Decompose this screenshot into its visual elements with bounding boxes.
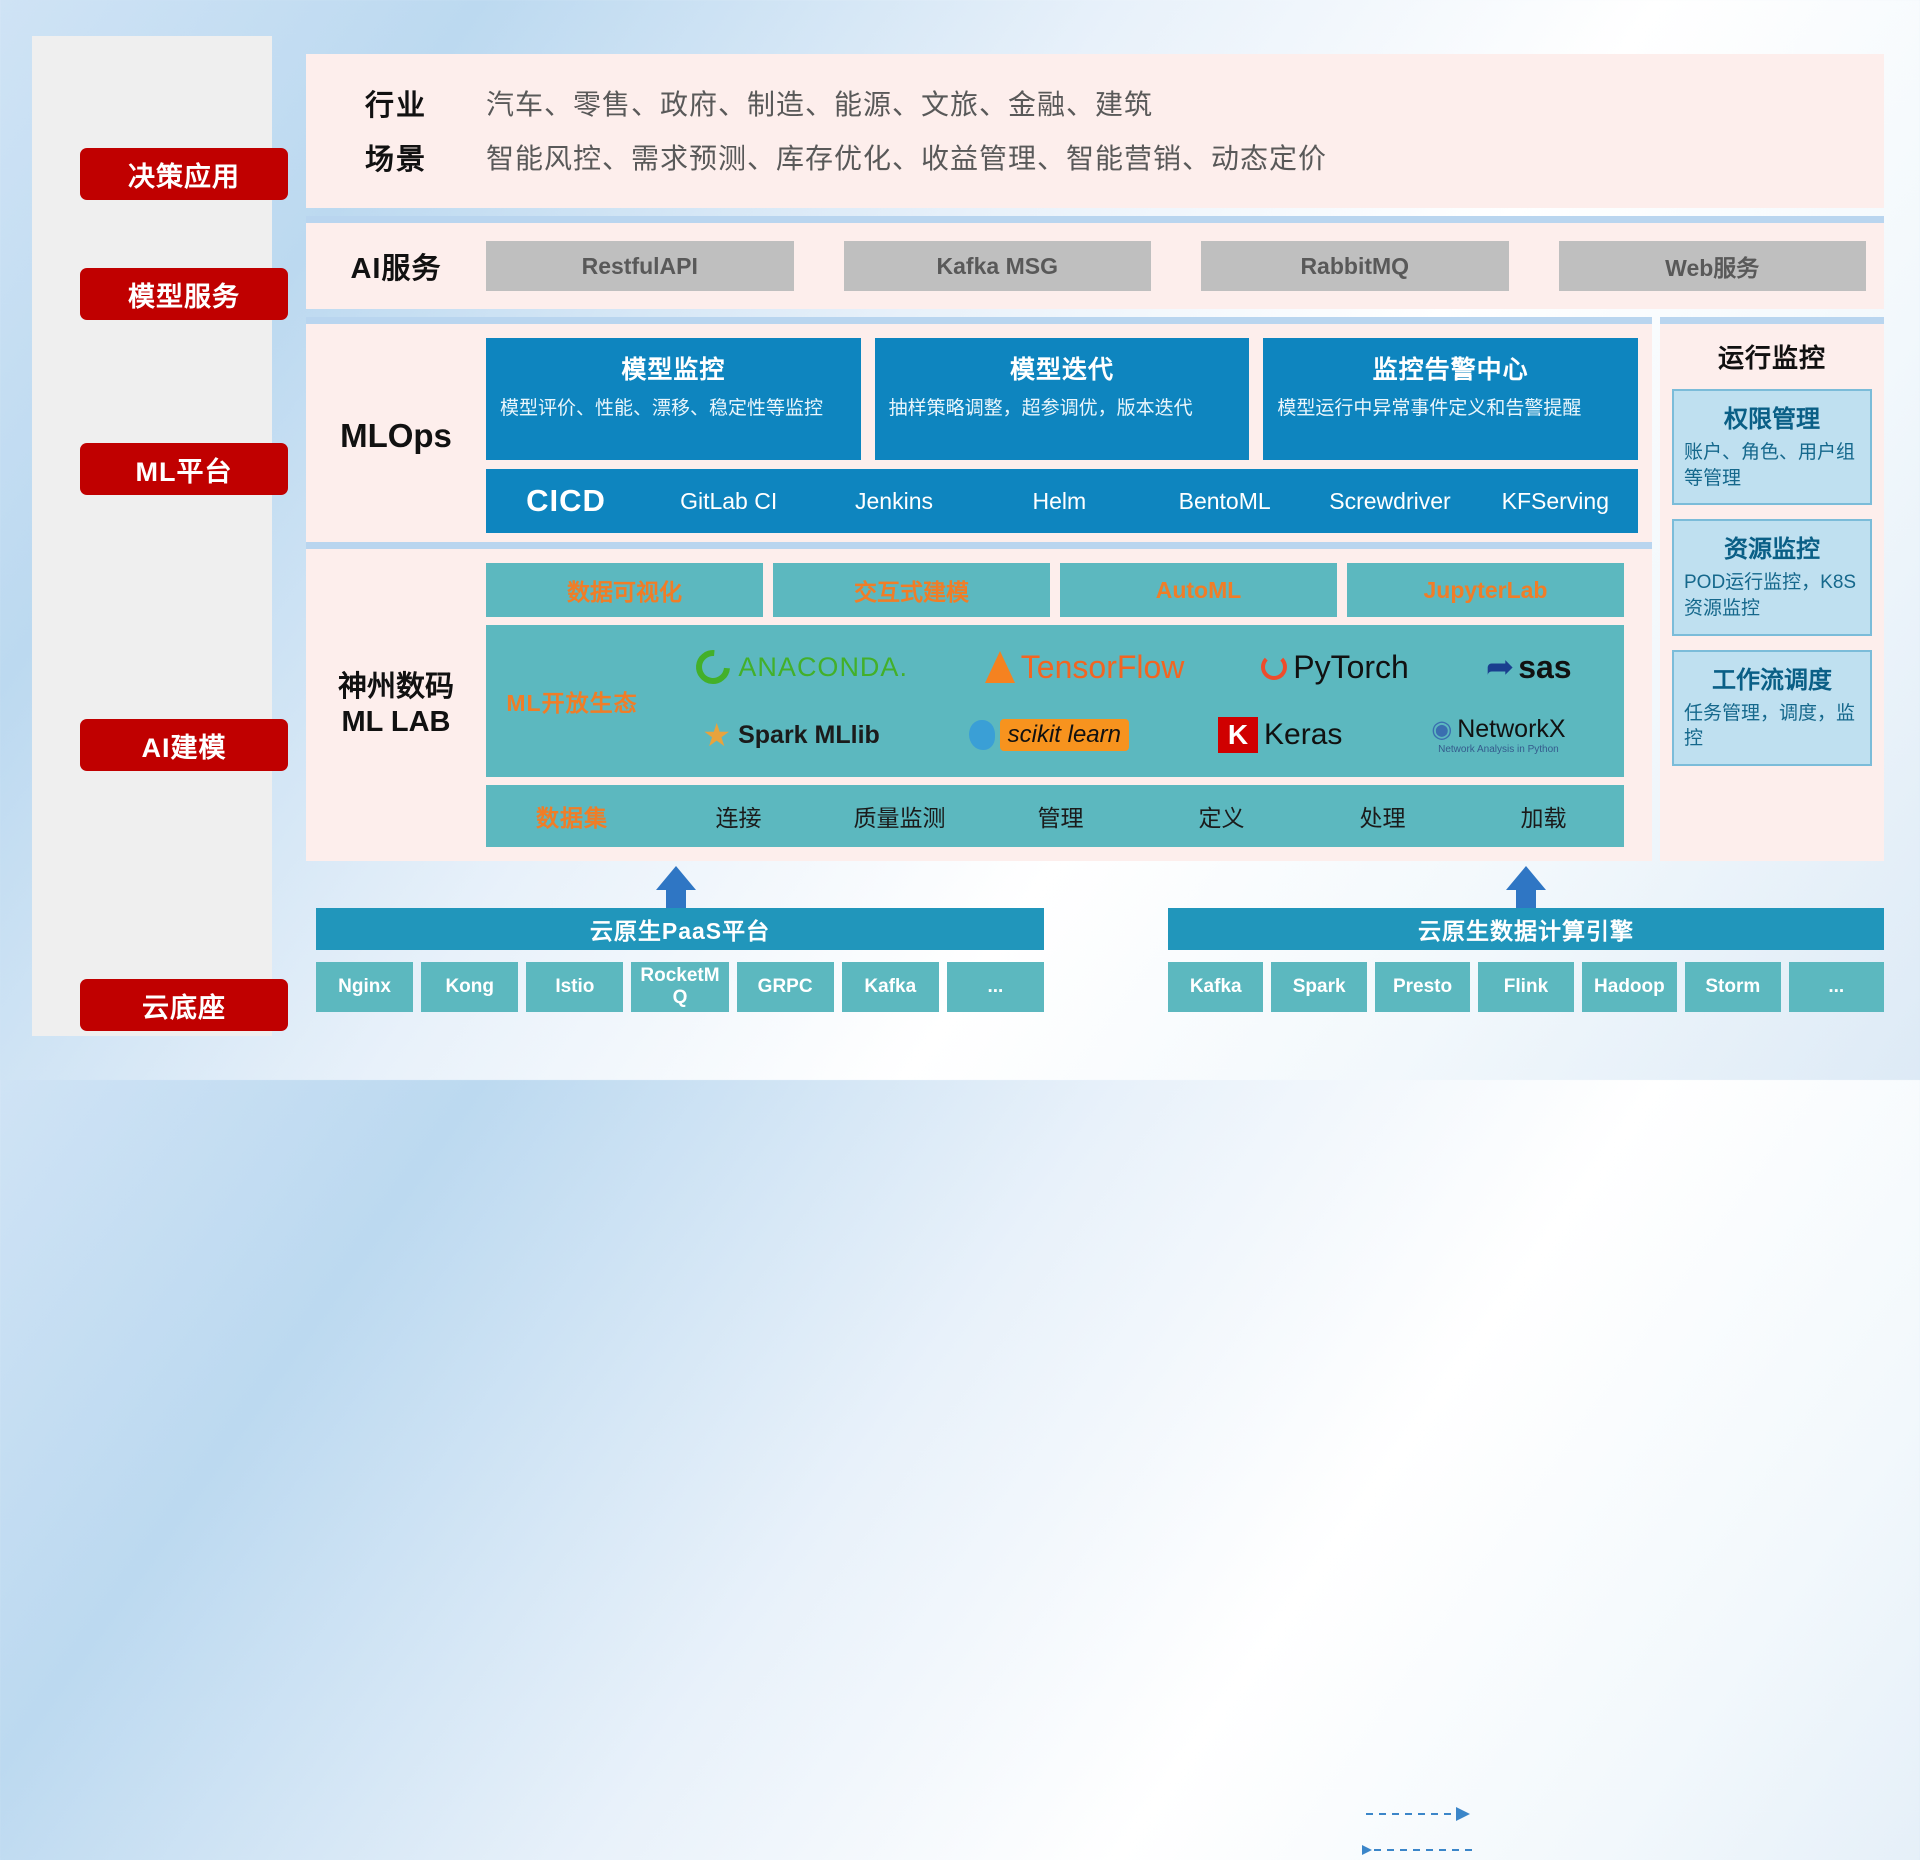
ai-service-chip-rabbitmq[interactable]: RabbitMQ <box>1201 241 1509 291</box>
cloud-chip-more2[interactable]: ... <box>1789 962 1884 1012</box>
scenario-label: 场景 <box>306 136 486 178</box>
sas-icon: ➦ <box>1486 647 1515 687</box>
mllab-label-line1: 神州数码 <box>338 670 454 705</box>
cicd-label: CICD <box>486 483 646 519</box>
scenario-list: 智能风控、需求预测、库存优化、收益管理、智能营销、动态定价 <box>486 137 1327 177</box>
platform-left: MLOps 模型监控 模型评价、性能、漂移、稳定性等监控 模型迭代 抽样策略调整… <box>306 317 1652 861</box>
logo-anaconda: ANACONDA. <box>696 650 908 684</box>
dataset-item-list: 连接 质量监测 管理 定义 处理 加载 <box>658 799 1624 833</box>
tensorflow-icon <box>985 651 1015 683</box>
tool-chip-automl[interactable]: AutoML <box>1060 563 1337 617</box>
cloud-chip-nginx[interactable]: Nginx <box>316 962 413 1012</box>
cloud-chip-kafka2[interactable]: Kafka <box>1168 962 1263 1012</box>
rail-item-model-service[interactable]: 模型服务 <box>80 268 288 320</box>
spark-star-icon: ★ <box>702 716 731 754</box>
mlops-row: MLOps 模型监控 模型评价、性能、漂移、稳定性等监控 模型迭代 抽样策略调整… <box>306 338 1652 533</box>
rail-item-decision-app[interactable]: 决策应用 <box>80 148 288 200</box>
industry-row: 行业 汽车、零售、政府、制造、能源、文旅、金融、建筑 <box>306 76 1884 130</box>
monitoring-card-workflow[interactable]: 工作流调度 任务管理，调度，监控 <box>1672 650 1872 766</box>
mlops-card-model-iteration[interactable]: 模型迭代 抽样策略调整，超参调优，版本迭代 <box>875 338 1250 460</box>
networkx-label: NetworkX <box>1457 715 1565 744</box>
card-title: 权限管理 <box>1684 399 1860 434</box>
rail-item-ml-platform[interactable]: ML平台 <box>80 443 288 495</box>
rail-item-cloud-base[interactable]: 云底座 <box>80 979 288 1031</box>
tensorflow-label: TensorFlow <box>1021 649 1185 686</box>
ai-service-chip-kafka-msg[interactable]: Kafka MSG <box>844 241 1152 291</box>
ai-service-chip-web[interactable]: Web服务 <box>1559 241 1867 291</box>
card-desc: 模型运行中异常事件定义和告警提醒 <box>1277 396 1624 422</box>
cloud-paas-title: 云原生PaaS平台 <box>316 908 1044 950</box>
logo-tensorflow: TensorFlow <box>985 649 1185 686</box>
cloud-columns-connector <box>1362 1802 1476 1860</box>
cloud-paas-chip-list: Nginx Kong Istio RocketMQ GRPC Kafka ... <box>316 962 1044 1012</box>
dataset-row: 数据集 连接 质量监测 管理 定义 处理 加载 <box>486 785 1624 847</box>
scikit-blob-icon <box>969 720 995 750</box>
tool-chip-data-viz[interactable]: 数据可视化 <box>486 563 763 617</box>
platform-band: MLOps 模型监控 模型评价、性能、漂移、稳定性等监控 模型迭代 抽样策略调整… <box>306 317 1884 861</box>
dataset-item-connect[interactable]: 连接 <box>658 799 819 833</box>
ai-service-chip-restfulapi[interactable]: RestfulAPI <box>486 241 794 291</box>
dataset-item-quality[interactable]: 质量监测 <box>819 799 980 833</box>
ml-ecosystem-row: ML开放生态 ANACONDA. <box>486 625 1624 777</box>
logo-spark-mllib: ★ Spark MLlib <box>702 716 879 754</box>
rail-item-label: 模型服务 <box>128 275 240 314</box>
mlops-card-list: 模型监控 模型评价、性能、漂移、稳定性等监控 模型迭代 抽样策略调整，超参调优，… <box>486 338 1638 460</box>
card-desc: POD运行监控，K8S资源监控 <box>1684 570 1860 621</box>
rail-item-label: 决策应用 <box>128 155 240 194</box>
card-desc: 抽样策略调整，超参调优，版本迭代 <box>889 396 1236 422</box>
networkx-graph-icon: ◉ <box>1431 715 1452 744</box>
industry-label: 行业 <box>306 82 486 124</box>
rail-item-label: AI建模 <box>142 726 227 765</box>
monitoring-card-resource[interactable]: 资源监控 POD运行监控，K8S资源监控 <box>1672 519 1872 635</box>
ai-service-label: AI服务 <box>306 245 486 287</box>
industry-list: 汽车、零售、政府、制造、能源、文旅、金融、建筑 <box>486 83 1153 123</box>
cloud-chip-kong[interactable]: Kong <box>421 962 518 1012</box>
cloud-chip-hadoop[interactable]: Hadoop <box>1582 962 1677 1012</box>
main-stack: 行业 汽车、零售、政府、制造、能源、文旅、金融、建筑 场景 智能风控、需求预测、… <box>306 54 1884 869</box>
cloud-chip-istio[interactable]: Istio <box>526 962 623 1012</box>
anaconda-icon <box>689 643 737 691</box>
modeling-content: 数据可视化 交互式建模 AutoML JupyterLab ML开放生态 <box>486 563 1652 847</box>
card-desc: 任务管理，调度，监控 <box>1684 701 1860 752</box>
mlops-label: MLOps <box>306 338 486 533</box>
card-title: 资源监控 <box>1684 529 1860 564</box>
anaconda-label: ANACONDA. <box>738 652 908 683</box>
card-title: 模型迭代 <box>889 350 1236 386</box>
cloud-paas-column: 云原生PaaS平台 Nginx Kong Istio RocketMQ GRPC… <box>316 908 1044 1012</box>
dataset-item-define[interactable]: 定义 <box>1141 799 1302 833</box>
logo-line-1: ANACONDA. TensorFlow <box>658 633 1610 701</box>
cicd-item-list: GitLab CI Jenkins Helm BentoML Screwdriv… <box>646 486 1638 516</box>
tool-chip-interactive[interactable]: 交互式建模 <box>773 563 1050 617</box>
pytorch-label: PyTorch <box>1293 649 1409 686</box>
cloud-data-engine-chip-list: Kafka Spark Presto Flink Hadoop Storm ..… <box>1168 962 1884 1012</box>
rail-item-label: 云底座 <box>142 986 226 1025</box>
modeling-row: 神州数码 ML LAB 数据可视化 交互式建模 AutoML JupyterLa… <box>306 563 1652 847</box>
dataset-item-process[interactable]: 处理 <box>1302 799 1463 833</box>
modeling-section: 神州数码 ML LAB 数据可视化 交互式建模 AutoML JupyterLa… <box>306 542 1652 847</box>
mllab-label-line2: ML LAB <box>341 705 450 740</box>
rail-item-ai-modeling[interactable]: AI建模 <box>80 719 288 771</box>
dataset-item-manage[interactable]: 管理 <box>980 799 1141 833</box>
arrow-paas-up <box>656 866 696 912</box>
cicd-item-kfserving[interactable]: KFServing <box>1473 486 1638 516</box>
scikit-learn-label: scikit learn <box>1000 719 1129 751</box>
cicd-item-screwdriver[interactable]: Screwdriver <box>1307 486 1472 516</box>
cicd-bar: CICD GitLab CI Jenkins Helm BentoML Scre… <box>486 469 1638 533</box>
cloud-data-engine-title: 云原生数据计算引擎 <box>1168 908 1884 950</box>
cloud-chip-rocketmq[interactable]: RocketMQ <box>631 962 728 1012</box>
logo-networkx: ◉ NetworkX Network Analysis in Python <box>1431 715 1565 755</box>
pytorch-icon <box>1261 654 1287 680</box>
monitoring-panel: 运行监控 权限管理 账户、角色、用户组等管理 资源监控 POD运行监控，K8S资… <box>1660 317 1884 861</box>
business-band: 行业 汽车、零售、政府、制造、能源、文旅、金融、建筑 场景 智能风控、需求预测、… <box>306 54 1884 208</box>
ai-service-chip-list: RestfulAPI Kafka MSG RabbitMQ Web服务 <box>486 241 1884 291</box>
cloud-chip-flink[interactable]: Flink <box>1478 962 1573 1012</box>
card-title: 模型监控 <box>500 350 847 386</box>
cloud-foundation-band: 云原生PaaS平台 Nginx Kong Istio RocketMQ GRPC… <box>306 872 1884 1042</box>
tool-chip-jupyterlab[interactable]: JupyterLab <box>1347 563 1624 617</box>
logo-keras: K Keras <box>1218 717 1343 753</box>
cloud-chip-grpc[interactable]: GRPC <box>737 962 834 1012</box>
sas-label: sas <box>1518 649 1571 686</box>
cloud-chip-presto[interactable]: Presto <box>1375 962 1470 1012</box>
cloud-chip-storm[interactable]: Storm <box>1685 962 1780 1012</box>
ai-service-band: AI服务 RestfulAPI Kafka MSG RabbitMQ Web服务 <box>306 216 1884 309</box>
keras-k-icon: K <box>1218 717 1258 753</box>
monitoring-card-permission[interactable]: 权限管理 账户、角色、用户组等管理 <box>1672 389 1872 505</box>
card-desc: 账户、角色、用户组等管理 <box>1684 440 1860 491</box>
card-desc: 模型评价、性能、漂移、稳定性等监控 <box>500 396 847 422</box>
keras-label: Keras <box>1264 718 1342 752</box>
monitoring-title: 运行监控 <box>1672 338 1872 375</box>
logo-scikit-learn: scikit learn <box>969 719 1129 751</box>
cicd-item-helm[interactable]: Helm <box>977 486 1142 516</box>
mlops-content: 模型监控 模型评价、性能、漂移、稳定性等监控 模型迭代 抽样策略调整，超参调优，… <box>486 338 1652 533</box>
cicd-item-gitlab-ci[interactable]: GitLab CI <box>646 486 811 516</box>
logo-pytorch: PyTorch <box>1261 649 1409 686</box>
scenario-row: 场景 智能风控、需求预测、库存优化、收益管理、智能营销、动态定价 <box>306 130 1884 184</box>
logo-line-2: ★ Spark MLlib scikit learn <box>658 701 1610 769</box>
cloud-chip-kafka[interactable]: Kafka <box>842 962 939 1012</box>
architecture-diagram: 决策应用 模型服务 ML平台 AI建模 云底座 行业 汽车、零售、政府、制造、能… <box>0 0 1920 1080</box>
cloud-chip-spark[interactable]: Spark <box>1271 962 1366 1012</box>
cicd-item-bentoml[interactable]: BentoML <box>1142 486 1307 516</box>
layer-rail: 决策应用 模型服务 ML平台 AI建模 云底座 <box>32 36 272 1036</box>
dataset-item-load[interactable]: 加载 <box>1463 799 1624 833</box>
modeling-tool-list: 数据可视化 交互式建模 AutoML JupyterLab <box>486 563 1638 617</box>
card-title: 监控告警中心 <box>1277 350 1624 386</box>
networkx-tagline: Network Analysis in Python <box>1438 744 1559 755</box>
arrow-data-engine-up <box>1506 866 1546 912</box>
ml-ecosystem-label: ML开放生态 <box>486 684 658 718</box>
mllab-label: 神州数码 ML LAB <box>306 563 486 847</box>
logo-sas: ➦ sas <box>1486 647 1572 687</box>
ml-ecosystem-logos: ANACONDA. TensorFlow <box>658 627 1624 775</box>
rail-item-label: ML平台 <box>136 450 233 489</box>
spark-mllib-label: Spark MLlib <box>738 721 880 750</box>
cicd-item-jenkins[interactable]: Jenkins <box>811 486 976 516</box>
cloud-data-engine-column: 云原生数据计算引擎 Kafka Spark Presto Flink Hadoo… <box>1168 908 1884 1012</box>
mlops-card-alert-center[interactable]: 监控告警中心 模型运行中异常事件定义和告警提醒 <box>1263 338 1638 460</box>
cloud-chip-more[interactable]: ... <box>947 962 1044 1012</box>
mlops-card-model-monitor[interactable]: 模型监控 模型评价、性能、漂移、稳定性等监控 <box>486 338 861 460</box>
card-title: 工作流调度 <box>1684 660 1860 695</box>
dataset-label: 数据集 <box>486 799 658 833</box>
